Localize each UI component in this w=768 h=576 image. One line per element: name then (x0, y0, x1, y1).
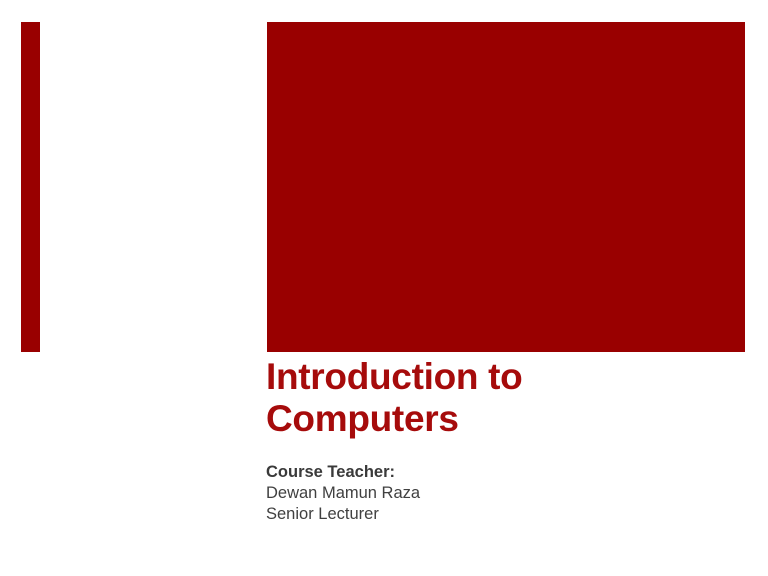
teacher-name: Dewan Mamun Raza (266, 483, 746, 504)
page-title: Introduction to Computers (266, 356, 746, 440)
teacher-designation: Senior Lecturer (266, 504, 746, 525)
page-title-line-2: Computers (266, 398, 746, 440)
hero-image-placeholder (267, 22, 745, 352)
page-title-line-1: Introduction to (266, 356, 746, 398)
presentation-slide: Introduction to Computers Course Teacher… (0, 0, 768, 576)
left-accent-bar (21, 22, 40, 352)
subtitle-block: Course Teacher: Dewan Mamun Raza Senior … (266, 462, 746, 525)
course-teacher-label: Course Teacher: (266, 462, 746, 483)
